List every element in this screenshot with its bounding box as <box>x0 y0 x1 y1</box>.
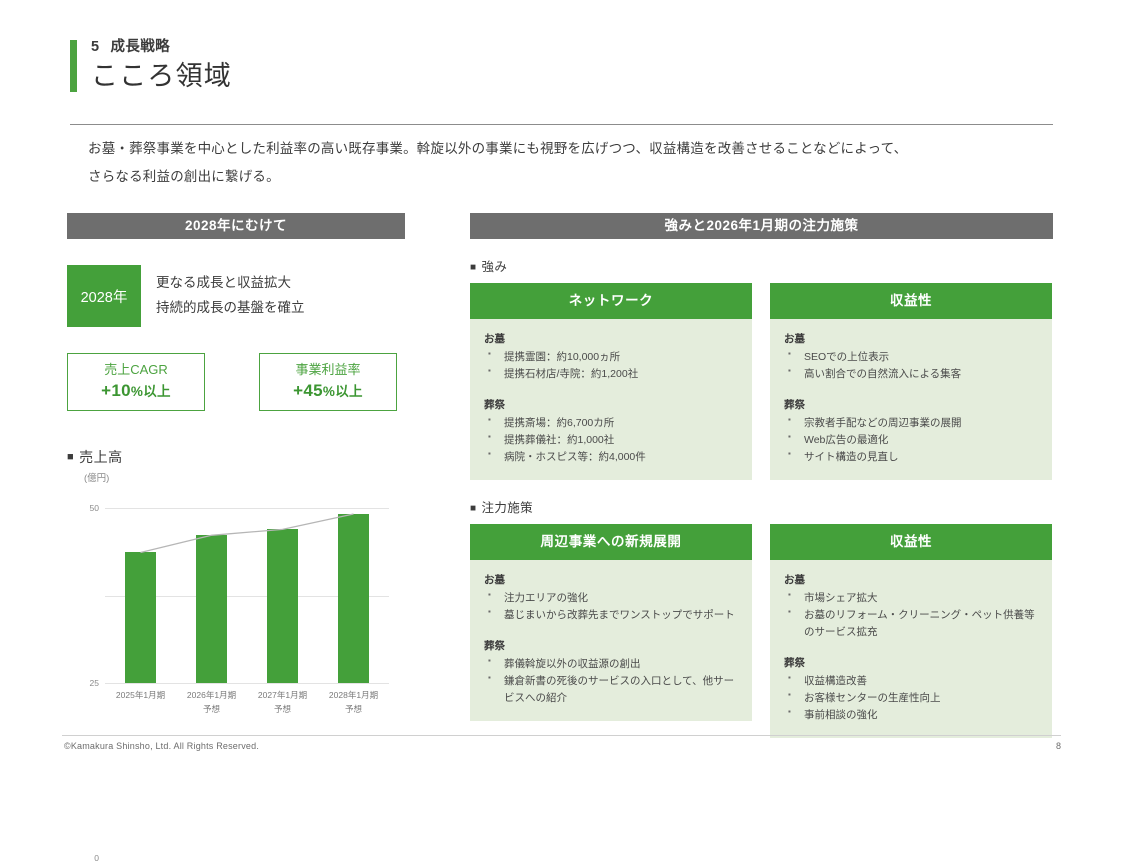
strength-card-body: お墓SEOでの上位表示高い割合での自然流入による集客葬祭宗教者手配などの周辺事業… <box>770 319 1052 480</box>
chart-x-tick-sublabel: 予想 <box>329 702 378 716</box>
footer-copyright: ©Kamakura Shinsho, Ltd. All Rights Reser… <box>64 741 259 751</box>
bullet-list: 収益構造改善お客様センターの生産性向上事前相談の強化 <box>784 673 1038 724</box>
strength-card-title: 収益性 <box>770 283 1052 319</box>
bullet-list: 提携斎場：約6,700カ所提携葬儀社：約1,000社病院・ホスピス等：約4,00… <box>484 415 738 466</box>
chart-x-tick-label: 2028年1月期予想 <box>329 688 378 716</box>
kpi-number-margin: +45 <box>293 381 323 400</box>
lead-line-2: さらなる利益の創出に繋げる。 <box>88 163 1063 191</box>
list-item: お墓のリフォーム・クリーニング・ペット供養等のサービス拡充 <box>784 607 1038 641</box>
group-title: お墓 <box>484 572 738 587</box>
group-title: 葬祭 <box>484 397 738 412</box>
measure-card-title: 収益性 <box>770 524 1052 560</box>
strengths-heading: ■強み <box>470 256 1053 275</box>
measure-card-body: お墓注力エリアの強化墓じまいから改葬先までワンストップでサポート葬祭葬儀斡旋以外… <box>470 560 752 721</box>
measure-card: 収益性お墓市場シェア拡大お墓のリフォーム・クリーニング・ペット供養等のサービス拡… <box>770 524 1052 738</box>
section-label: 5成長戦略 <box>91 38 232 58</box>
group-title: お墓 <box>484 331 738 346</box>
bullet-list: 市場シェア拡大お墓のリフォーム・クリーニング・ペット供養等のサービス拡充 <box>784 590 1038 641</box>
strengths-card-grid: ネットワークお墓提携霊園：約10,000ヵ所提携石材店/寺院：約1,200社葬祭… <box>470 283 1053 480</box>
right-panel-title: 強みと2026年1月期の注力施策 <box>470 213 1053 239</box>
kpi-value-cagr: +10%以上 <box>101 380 171 403</box>
revenue-chart-block: ■売上高 (億円) 02550 2025年1月期2026年1月期予想2027年1… <box>67 447 405 720</box>
list-item: 高い割合での自然流入による集客 <box>784 366 1038 383</box>
chart-x-tick-label: 2026年1月期予想 <box>187 688 236 716</box>
title-accent-bar <box>70 40 77 92</box>
bullet-list: SEOでの上位表示高い割合での自然流入による集客 <box>784 349 1038 383</box>
list-item: 提携葬儀社：約1,000社 <box>484 432 738 449</box>
kpi-unit-margin: %以上 <box>323 384 363 399</box>
year-chip: 2028年 <box>67 265 141 327</box>
chart-x-tick-primary: 2028年1月期 <box>329 688 378 702</box>
list-item: 提携石材店/寺院：約1,200社 <box>484 366 738 383</box>
list-item: サイト構造の見直し <box>784 449 1038 466</box>
measure-card: 周辺事業への新規展開お墓注力エリアの強化墓じまいから改葬先までワンストップでサポ… <box>470 524 752 738</box>
chart-x-axis-labels: 2025年1月期2026年1月期予想2027年1月期予想2028年1月期予想 <box>105 688 389 724</box>
year-description-line-2: 持続的成長の基盤を確立 <box>156 296 305 321</box>
strength-card: ネットワークお墓提携霊園：約10,000ヵ所提携石材店/寺院：約1,200社葬祭… <box>470 283 752 480</box>
list-item: 提携斎場：約6,700カ所 <box>484 415 738 432</box>
section-name: 成長戦略 <box>110 39 170 55</box>
chart-y-tick-label: 50 <box>90 503 99 513</box>
list-item: 葬儀斡旋以外の収益源の創出 <box>484 656 738 673</box>
list-item: Web広告の最適化 <box>784 432 1038 449</box>
kpi-label-margin: 事業利益率 <box>295 361 360 379</box>
square-bullet-icon: ■ <box>67 451 74 463</box>
list-item: 宗教者手配などの周辺事業の展開 <box>784 415 1038 432</box>
right-panel: 強みと2026年1月期の注力施策 ■強み ネットワークお墓提携霊園：約10,00… <box>470 213 1053 738</box>
list-item: 鎌倉新書の死後のサービスの入口として、他サービスへの紹介 <box>484 673 738 707</box>
chart-x-tick-primary: 2025年1月期 <box>116 688 165 702</box>
list-item: 収益構造改善 <box>784 673 1038 690</box>
kpi-unit-cagr: %以上 <box>131 384 171 399</box>
year-description-line-1: 更なる成長と収益拡大 <box>156 271 305 296</box>
bullet-list: 提携霊園：約10,000ヵ所提携石材店/寺院：約1,200社 <box>484 349 738 383</box>
kpi-row: 売上CAGR +10%以上 事業利益率 +45%以上 <box>67 353 405 411</box>
chart-x-tick-sublabel: 予想 <box>258 702 307 716</box>
section-number: 5 <box>91 39 99 55</box>
group-title: 葬祭 <box>784 397 1038 412</box>
footer-page-number: 8 <box>1056 741 1061 751</box>
list-item: お客様センターの生産性向上 <box>784 690 1038 707</box>
page-header: 5成長戦略 こころ領域 <box>70 38 1053 94</box>
bullet-list: 宗教者手配などの周辺事業の展開Web広告の最適化サイト構造の見直し <box>784 415 1038 466</box>
chart-x-tick-primary: 2027年1月期 <box>258 688 307 702</box>
list-item: 事前相談の強化 <box>784 707 1038 724</box>
chart-x-tick-label: 2025年1月期 <box>116 688 165 702</box>
strength-card-body: お墓提携霊園：約10,000ヵ所提携石材店/寺院：約1,200社葬祭提携斎場：約… <box>470 319 752 480</box>
group-title: お墓 <box>784 572 1038 587</box>
chart-canvas: 02550 2025年1月期2026年1月期予想2027年1月期予想2028年1… <box>69 500 389 720</box>
measure-card-title: 周辺事業への新規展開 <box>470 524 752 560</box>
list-item: 病院・ホスピス等：約4,000件 <box>484 449 738 466</box>
bullet-list: 葬儀斡旋以外の収益源の創出鎌倉新書の死後のサービスの入口として、他サービスへの紹… <box>484 656 738 707</box>
kpi-number-cagr: +10 <box>101 381 131 400</box>
measures-heading: ■注力施策 <box>470 497 1053 516</box>
square-bullet-icon: ■ <box>470 503 476 514</box>
chart-title: ■売上高 <box>67 447 405 467</box>
chart-y-tick-label: 25 <box>90 678 99 688</box>
target-year-row: 2028年 更なる成長と収益拡大 持続的成長の基盤を確立 <box>67 265 405 327</box>
group-title: 葬祭 <box>484 638 738 653</box>
bullet-list: 注力エリアの強化墓じまいから改葬先までワンストップでサポート <box>484 590 738 624</box>
kpi-card-cagr: 売上CAGR +10%以上 <box>67 353 205 411</box>
chart-y-tick-label: 0 <box>94 853 99 863</box>
chart-title-text: 売上高 <box>79 449 123 465</box>
list-item: SEOでの上位表示 <box>784 349 1038 366</box>
square-bullet-icon: ■ <box>470 262 476 273</box>
chart-x-tick-primary: 2026年1月期 <box>187 688 236 702</box>
chart-trend-line <box>105 508 389 683</box>
footer-divider <box>62 735 1061 736</box>
chart-x-tick-sublabel: 予想 <box>187 702 236 716</box>
group-title: お墓 <box>784 331 1038 346</box>
lead-line-1: お墓・葬祭事業を中心とした利益率の高い既存事業。斡旋以外の事業にも視野を広げつつ… <box>88 135 1063 163</box>
left-panel: 2028年にむけて 2028年 更なる成長と収益拡大 持続的成長の基盤を確立 売… <box>67 213 405 720</box>
measures-heading-text: 注力施策 <box>481 501 533 515</box>
list-item: 墓じまいから改葬先までワンストップでサポート <box>484 607 738 624</box>
chart-gridline: 0 <box>105 683 389 684</box>
lead-paragraph: お墓・葬祭事業を中心とした利益率の高い既存事業。斡旋以外の事業にも視野を広げつつ… <box>88 135 1063 192</box>
chart-plot-area: 02550 <box>105 508 389 683</box>
list-item: 注力エリアの強化 <box>484 590 738 607</box>
group-title: 葬祭 <box>784 655 1038 670</box>
strength-card: 収益性お墓SEOでの上位表示高い割合での自然流入による集客葬祭宗教者手配などの周… <box>770 283 1052 480</box>
kpi-card-margin: 事業利益率 +45%以上 <box>259 353 397 411</box>
measures-card-grid: 周辺事業への新規展開お墓注力エリアの強化墓じまいから改葬先までワンストップでサポ… <box>470 524 1053 738</box>
strengths-heading-text: 強み <box>481 260 507 274</box>
kpi-value-margin: +45%以上 <box>293 380 363 403</box>
list-item: 市場シェア拡大 <box>784 590 1038 607</box>
measure-card-body: お墓市場シェア拡大お墓のリフォーム・クリーニング・ペット供養等のサービス拡充葬祭… <box>770 560 1052 738</box>
strength-card-title: ネットワーク <box>470 283 752 319</box>
page-title: こころ領域 <box>91 59 232 94</box>
list-item: 提携霊園：約10,000ヵ所 <box>484 349 738 366</box>
chart-unit-label: (億円) <box>84 470 405 484</box>
kpi-label-cagr: 売上CAGR <box>104 361 168 379</box>
year-description: 更なる成長と収益拡大 持続的成長の基盤を確立 <box>156 271 305 321</box>
header-divider <box>70 124 1053 125</box>
chart-x-tick-label: 2027年1月期予想 <box>258 688 307 716</box>
left-panel-title: 2028年にむけて <box>67 213 405 239</box>
